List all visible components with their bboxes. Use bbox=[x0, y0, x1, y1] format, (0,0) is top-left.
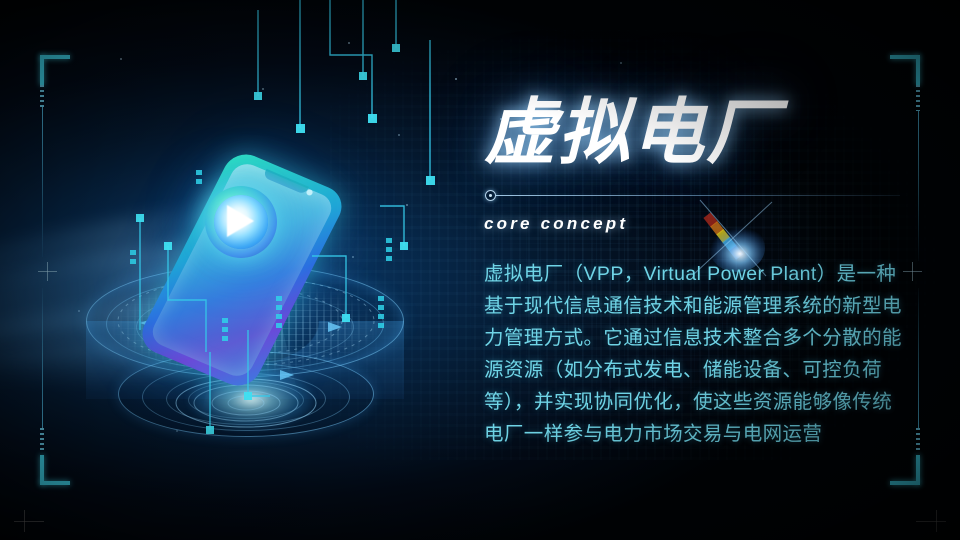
background-vignette bbox=[0, 0, 960, 540]
slide-canvas: 虚拟电厂 core concept 虚拟电厂（VPP，Virtual Power… bbox=[0, 0, 960, 540]
